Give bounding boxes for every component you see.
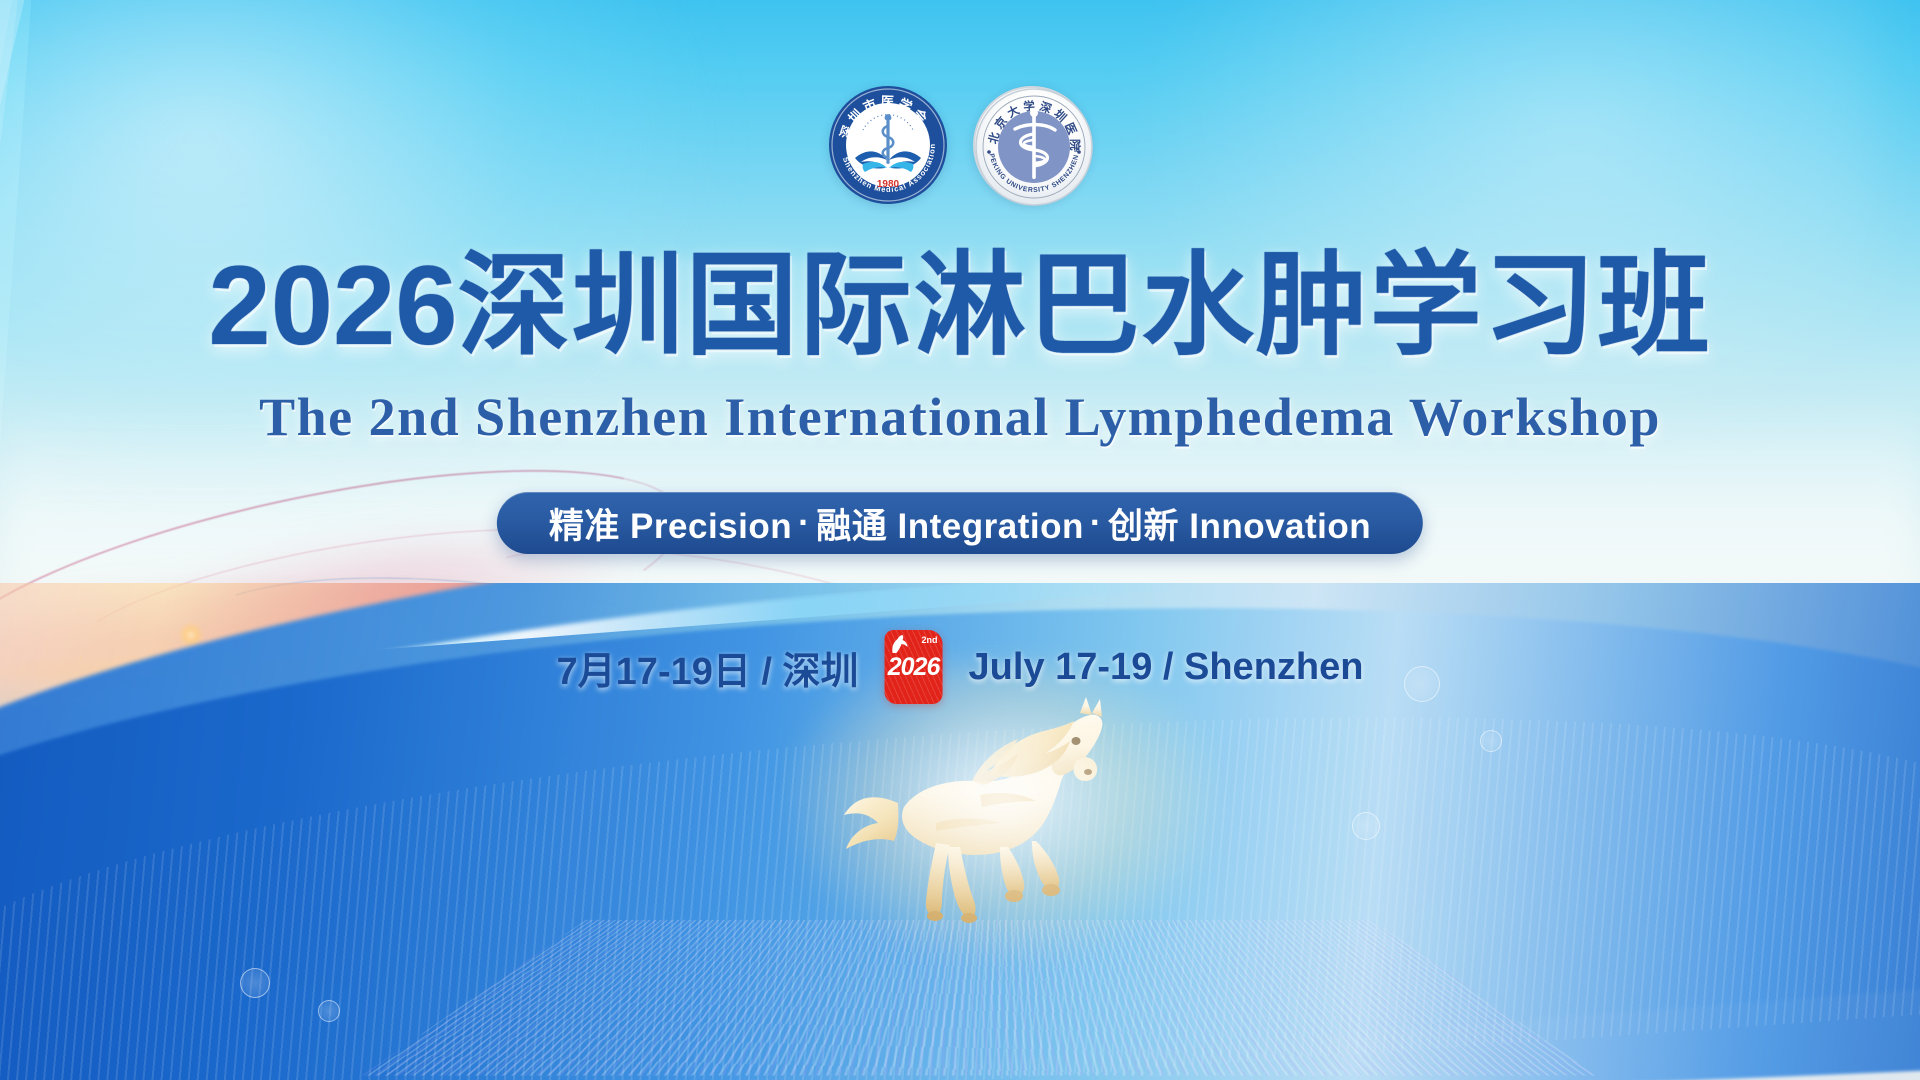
bokeh-circle	[318, 1000, 340, 1022]
horse-glow	[792, 661, 1227, 968]
perspective-rays	[363, 920, 1596, 1075]
page-title: 2026深圳国际淋巴水肿学习班	[0, 250, 1920, 362]
bokeh-circle	[240, 968, 270, 998]
light-spark	[224, 752, 240, 768]
horse-head-icon	[889, 634, 911, 654]
galloping-horse-illustration	[840, 695, 1180, 935]
bokeh-circle	[1404, 666, 1440, 702]
theme-separator: ·	[1084, 503, 1108, 543]
seal-edition: 2nd	[922, 635, 938, 645]
event-dateline: 7月17-19日 / 深圳 2nd 2026 July 17-19 / Shen…	[557, 630, 1364, 704]
logo-year: 1980	[877, 179, 900, 190]
theme-banner: 精准 Precision · 融通 Integration · 创新 Innov…	[497, 492, 1423, 554]
gold-glitter-arc	[0, 562, 634, 735]
title-main: 深圳国际淋巴水肿学习班	[458, 243, 1712, 368]
light-spark	[74, 740, 92, 758]
sky-glow-right	[1114, 0, 1882, 454]
event-date-en: July 17-19 / Shenzhen	[969, 646, 1364, 689]
year-seal-stamp: 2nd 2026	[885, 630, 943, 704]
event-date-cn: 7月17-19日 / 深圳	[557, 640, 859, 695]
shenzhen-skyline-silhouette	[0, 555, 1920, 975]
title-year: 2026	[208, 243, 457, 368]
logo-shenzhen-medical-association[interactable]: 深圳市医学会 Shenzhen Medical Association 1980	[829, 86, 947, 204]
logo-peking-university-shenzhen-hospital[interactable]: 北京大学深圳医院 PEKING UNIVERSITY SHENZHEN HOSP…	[973, 86, 1091, 204]
light-spark	[360, 838, 380, 858]
organizer-logos: 深圳市医学会 Shenzhen Medical Association 1980	[829, 86, 1091, 204]
horse-icon	[840, 695, 1180, 935]
theme-integration: 融通 Integration	[816, 498, 1084, 549]
theme-innovation: 创新 Innovation	[1108, 498, 1371, 549]
light-spark	[178, 622, 204, 648]
page-subtitle: The 2nd Shenzhen International Lymphedem…	[0, 390, 1920, 444]
conference-poster: 深圳市医学会 Shenzhen Medical Association 1980	[0, 0, 1920, 1080]
light-spark	[1130, 845, 1144, 859]
bokeh-circle	[1352, 812, 1380, 840]
theme-separator: ·	[792, 503, 816, 543]
wave-light-streaks	[0, 659, 1920, 1080]
silk-filament	[0, 419, 703, 769]
seal-year: 2026	[888, 656, 940, 679]
bokeh-circle	[1480, 730, 1502, 752]
theme-precision: 精准 Precision	[549, 498, 792, 549]
